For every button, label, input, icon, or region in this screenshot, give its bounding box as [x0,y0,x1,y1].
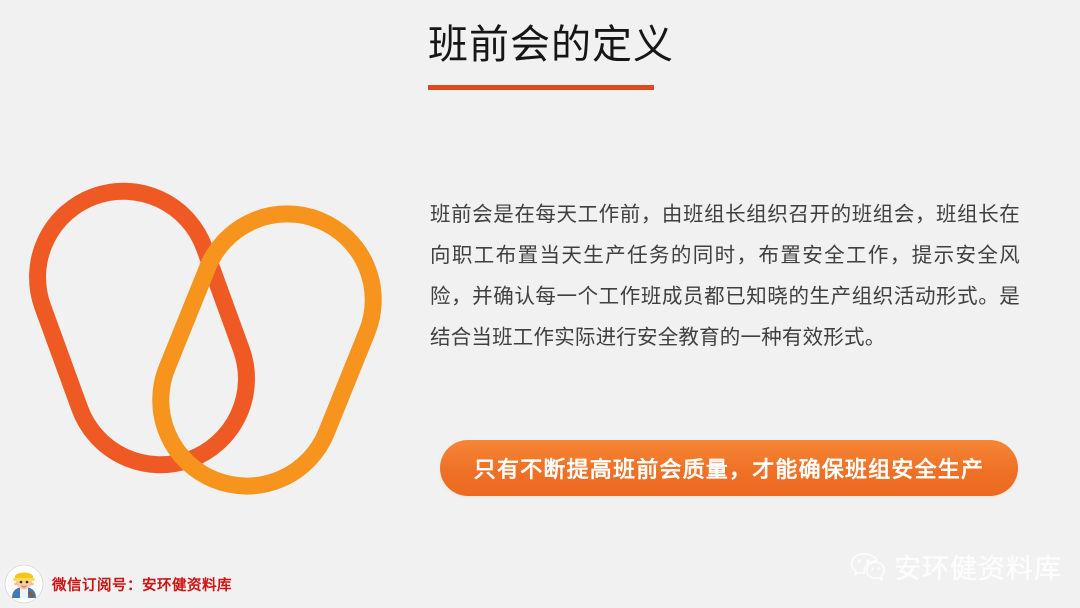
worker-avatar-icon [4,564,44,604]
capsule-red-orange-frame [13,167,270,489]
title-underline [428,85,654,90]
body-paragraph: 班前会是在每天工作前，由班组长组织召开的班组会，班组长在向职工布置当天生产任务的… [430,194,1020,358]
highlight-banner-text: 只有不断提高班前会质量，才能确保班组安全生产 [474,452,984,484]
wechat-icon [850,552,886,582]
footer-left-watermark: 微信订阅号：安环健资料库 [4,564,232,604]
footer-right-text: 安环健资料库 [894,547,1062,586]
footer-right-watermark: 安环健资料库 [850,547,1062,586]
page-title: 班前会的定义 [428,18,988,72]
highlight-banner: 只有不断提高班前会质量，才能确保班组安全生产 [440,440,1018,496]
title-block: 班前会的定义 [428,18,988,90]
photo-composition [12,132,422,542]
slide-canvas: 班前会的定义 班前会是在每天工作前，由班组长组织召开的班组会，班组长在向职工布置… [0,0,1080,608]
footer-left-text: 微信订阅号：安环健资料库 [52,574,232,595]
